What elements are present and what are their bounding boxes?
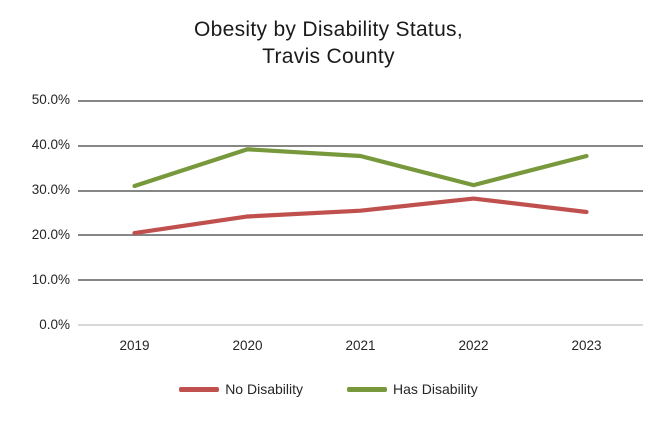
x-axis-tick-label: 2021 [326,338,396,354]
y-axis-tick-label: 50.0% [8,93,70,107]
plot-area [78,100,643,324]
x-axis-tick-label: 2019 [100,338,170,354]
chart-title-line-2: Travis County [0,43,657,70]
x-axis-tick-label: 2020 [213,338,283,354]
y-axis: 50.0% 40.0% 30.0% 20.0% 10.0% 0.0% [6,0,70,422]
legend-label: Has Disability [393,381,478,397]
y-axis-tick-label: 30.0% [8,183,70,197]
series-line-no-disability [135,199,587,234]
legend-entry-no-disability[interactable]: No Disability [179,381,303,397]
x-axis: 2019 2020 2021 2022 2023 [78,338,643,358]
y-axis-tick-label: 10.0% [8,273,70,287]
legend-swatch-icon [347,387,387,392]
y-axis-tick-label: 0.0% [8,318,70,332]
legend-swatch-icon [179,387,219,392]
y-axis-tick-label: 40.0% [8,138,70,152]
chart-legend: No Disability Has Disability [0,381,657,397]
x-axis-tick-label: 2022 [439,338,509,354]
series-line-has-disability [135,149,587,186]
x-axis-tick-label: 2023 [552,338,622,354]
chart-title: Obesity by Disability Status, Travis Cou… [0,16,657,70]
chart-title-line-1: Obesity by Disability Status, [0,16,657,43]
series-plot [78,100,643,324]
legend-entry-has-disability[interactable]: Has Disability [347,381,478,397]
y-axis-tick-label: 20.0% [8,228,70,242]
gridline-0-baseline [78,324,643,326]
legend-label: No Disability [225,381,303,397]
chart-container: Obesity by Disability Status, Travis Cou… [0,0,657,422]
